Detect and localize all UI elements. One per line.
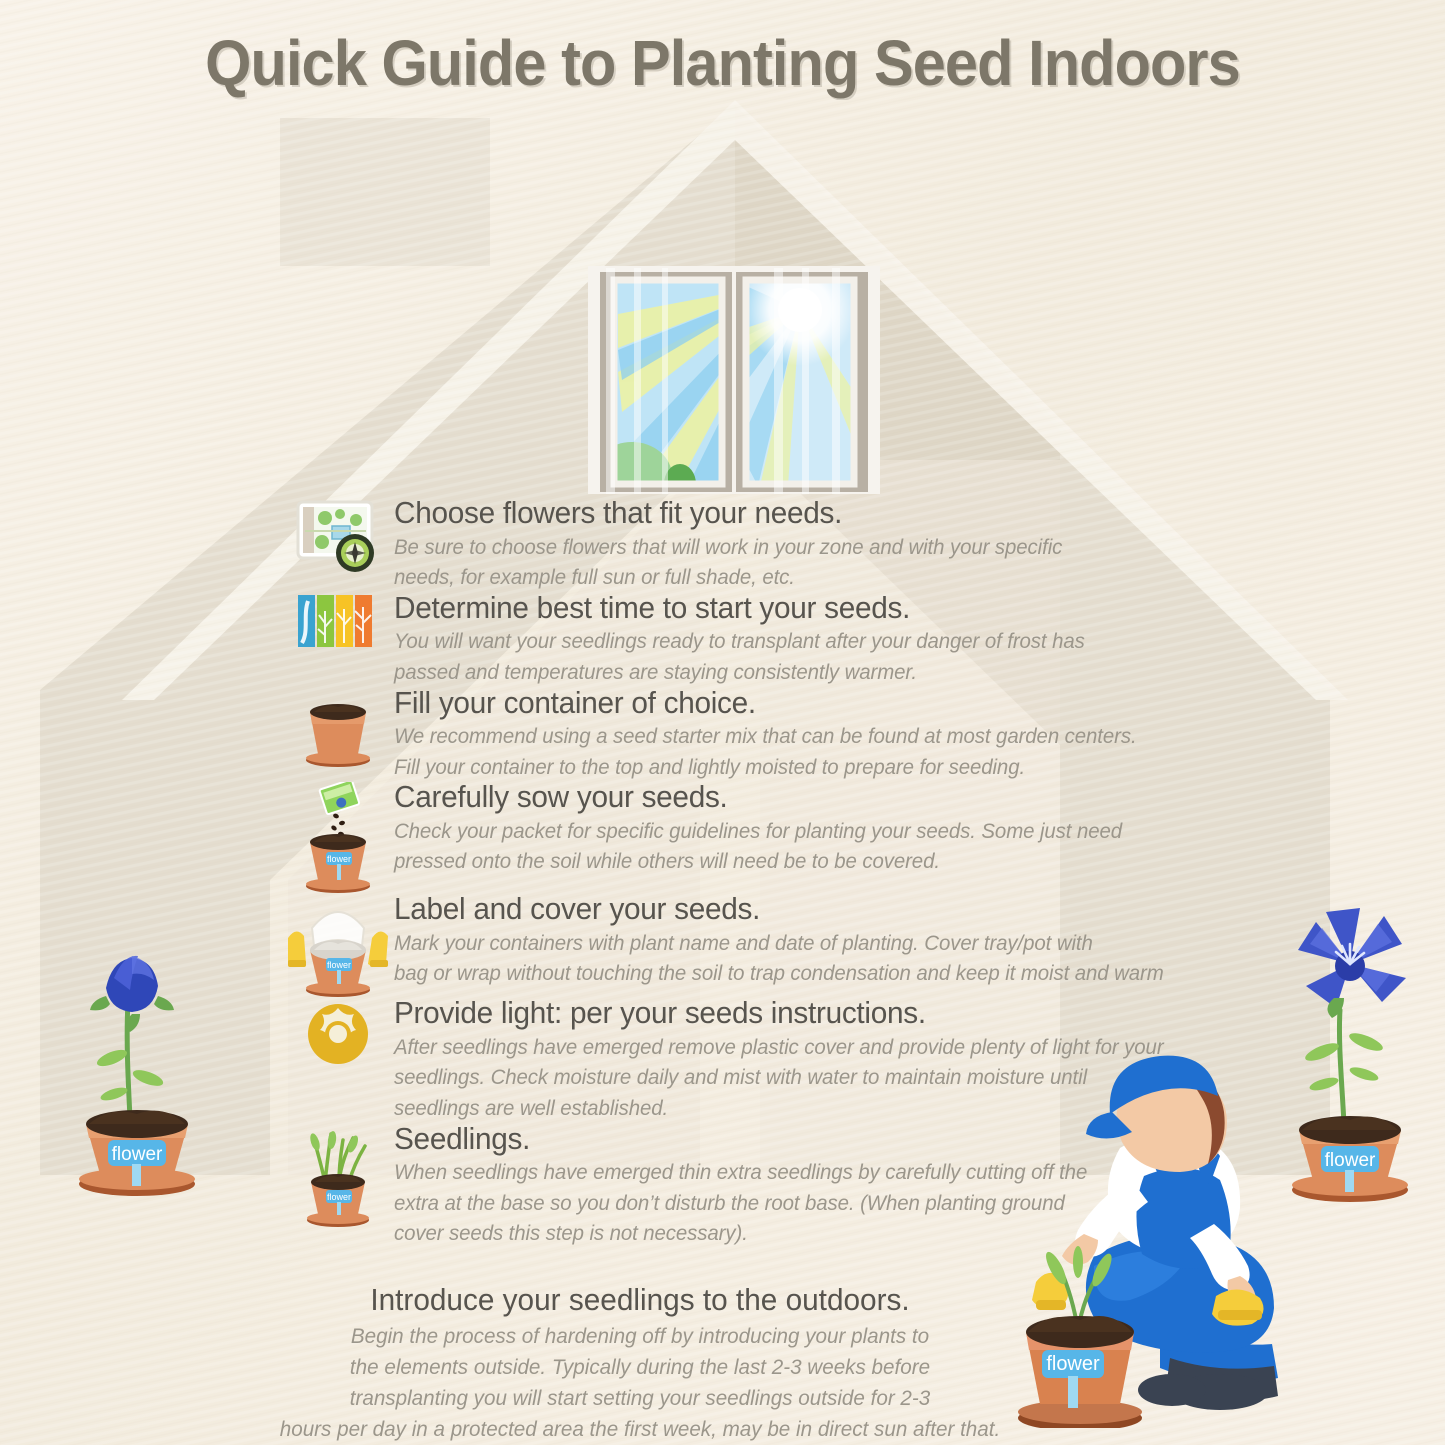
sunny-window-illustration — [588, 262, 880, 510]
svg-text:flower: flower — [1046, 1353, 1100, 1375]
garden-plan-compass-icon — [286, 496, 390, 584]
step-heading: Provide light: per your seeds instructio… — [394, 996, 1174, 1031]
outro-body: Begin the process of hardening off by in… — [256, 1321, 1024, 1445]
step-body: Mark your containers with plant name and… — [394, 928, 1165, 989]
seedlings-in-pot-icon: flower — [286, 1122, 390, 1228]
step-text: Label and cover your seeds. Mark your co… — [390, 892, 1206, 989]
step-text: Provide light: per your seeds instructio… — [390, 996, 1206, 1123]
svg-text:flower: flower — [112, 1144, 163, 1165]
outro-block: Introduce your seedlings to the outdoors… — [240, 1282, 1040, 1445]
svg-text:flower: flower — [327, 1192, 351, 1202]
step-body: We recommend using a seed starter mix th… — [394, 721, 1165, 782]
step-item: flower Carefully sow your seeds. Check y… — [286, 780, 1206, 894]
step-item: flower Label and cover your seeds. Mark … — [286, 892, 1206, 998]
step-heading: Seedlings. — [394, 1122, 1174, 1157]
step-text: Fill your container of choice. We recomm… — [390, 686, 1206, 783]
step-body: When seedlings have emerged thin extra s… — [394, 1157, 1165, 1249]
sun-light-rosette-icon — [286, 996, 390, 1070]
step-body: Be sure to choose flowers that will work… — [394, 532, 1165, 593]
step-item: Fill your container of choice. We recomm… — [286, 686, 1206, 783]
step-item: Choose flowers that fit your needs. Be s… — [286, 496, 1206, 593]
step-body: After seedlings have emerged remove plas… — [394, 1032, 1165, 1124]
step-heading: Choose flowers that fit your needs. — [394, 496, 1174, 531]
gloves-covering-pot-icon: flower — [286, 892, 390, 998]
step-heading: Carefully sow your seeds. — [394, 780, 1174, 815]
step-body: Check your packet for specific guideline… — [394, 816, 1165, 877]
step-text: Choose flowers that fit your needs. Be s… — [390, 496, 1206, 593]
step-text: Determine best time to start your seeds.… — [390, 591, 1206, 688]
svg-text:flower: flower — [327, 854, 351, 864]
step-heading: Label and cover your seeds. — [394, 892, 1174, 927]
four-seasons-strip-icon — [286, 591, 390, 649]
seed-packet-sowing-icon: flower — [286, 780, 390, 894]
step-heading: Fill your container of choice. — [394, 686, 1174, 721]
steps-list: Choose flowers that fit your needs. Be s… — [286, 496, 1206, 1247]
outro-heading: Introduce your seedlings to the outdoors… — [256, 1282, 1024, 1318]
step-item: Provide light: per your seeds instructio… — [286, 996, 1206, 1123]
step-item: Determine best time to start your seeds.… — [286, 591, 1206, 688]
svg-text:flower: flower — [327, 960, 351, 970]
potted-blue-bud-flower: flower — [62, 918, 212, 1203]
step-text: Seedlings. When seedlings have emerged t… — [390, 1122, 1206, 1249]
step-body: You will want your seedlings ready to tr… — [394, 626, 1165, 687]
pot-with-soil-icon — [286, 686, 390, 768]
infographic-poster: Quick Guide to Planting Seed Indoors — [0, 0, 1445, 1445]
step-heading: Determine best time to start your seeds. — [394, 591, 1174, 626]
step-text: Carefully sow your seeds. Check your pac… — [390, 780, 1206, 877]
step-item: flower Seedlings. When seedlings have em… — [286, 1122, 1206, 1249]
poster-title: Quick Guide to Planting Seed Indoors — [51, 26, 1395, 100]
